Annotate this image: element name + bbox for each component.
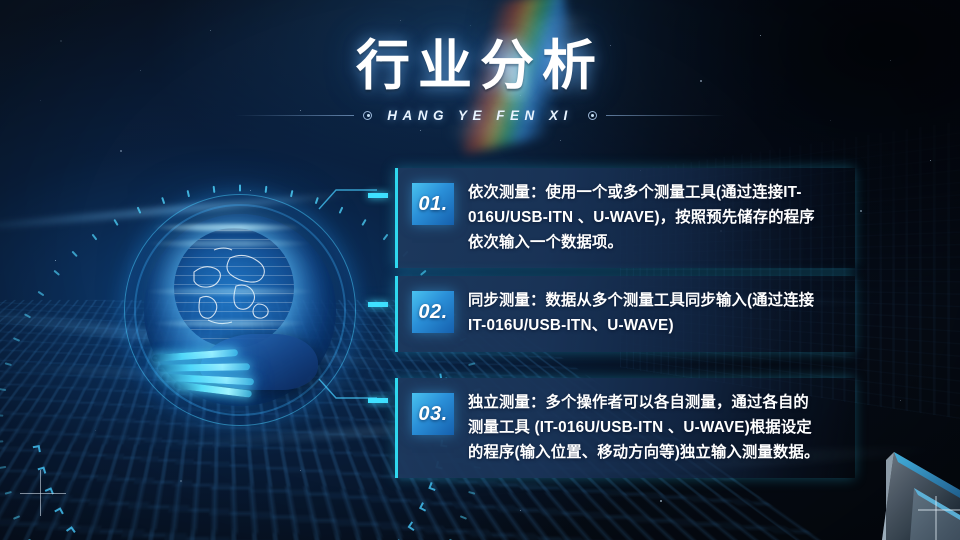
globe-ring-band bbox=[152, 320, 308, 327]
circle-dot-icon bbox=[363, 111, 372, 120]
slide-canvas: 行业分析 HANG YE FEN XI bbox=[0, 0, 960, 540]
page-title: 行业分析 bbox=[0, 38, 960, 95]
connector-dash bbox=[368, 302, 388, 307]
open-hand-icon bbox=[138, 328, 318, 400]
crosshair-horizontal bbox=[20, 493, 66, 494]
connector-dash bbox=[368, 398, 388, 403]
item-number: 01. bbox=[418, 193, 447, 216]
crosshair-vertical bbox=[40, 470, 41, 516]
item-number-badge: 01. bbox=[412, 183, 454, 225]
title-block: 行业分析 HANG YE FEN XI bbox=[0, 38, 960, 123]
registration-crosshair-icon bbox=[20, 470, 66, 516]
circle-dot-icon bbox=[588, 111, 597, 120]
list-item[interactable]: 01. 依次测量：使用一个或多个测量工具(通过连接IT-016U/USB-ITN… bbox=[395, 168, 855, 268]
list-item[interactable]: 02. 同步测量：数据从多个测量工具同步输入(通过连接IT-016U/USB-I… bbox=[395, 276, 855, 352]
item-number: 02. bbox=[418, 301, 447, 324]
item-number: 03. bbox=[418, 403, 447, 426]
item-text: 独立测量：多个操作者可以各自测量，通过各自的测量工具 (IT-016U/USB-… bbox=[468, 391, 823, 465]
item-text: 依次测量：使用一个或多个测量工具(通过连接IT-016U/USB-ITN 、U-… bbox=[468, 181, 823, 255]
page-subtitle: HANG YE FEN XI bbox=[381, 108, 579, 123]
subtitle-divider-right bbox=[606, 115, 726, 116]
hud-tick bbox=[0, 414, 3, 416]
item-text: 同步测量：数据从多个测量工具同步输入(通过连接IT-016U/USB-ITN、U… bbox=[468, 289, 823, 339]
connector-dash bbox=[368, 193, 388, 198]
subtitle-divider-left bbox=[234, 115, 354, 116]
item-number-badge: 03. bbox=[412, 393, 454, 435]
globe-ring-band bbox=[152, 224, 302, 231]
globe-ring-band bbox=[146, 240, 312, 247]
list-item[interactable]: 03. 独立测量：多个操作者可以各自测量，通过各自的测量工具 (IT-016U/… bbox=[395, 378, 855, 478]
hud-chevron bbox=[33, 445, 41, 453]
globe-ring-band bbox=[144, 288, 316, 295]
glass-panel-decoration-icon bbox=[840, 430, 960, 540]
subtitle-row: HANG YE FEN XI bbox=[0, 108, 960, 123]
item-number-badge: 02. bbox=[412, 291, 454, 333]
